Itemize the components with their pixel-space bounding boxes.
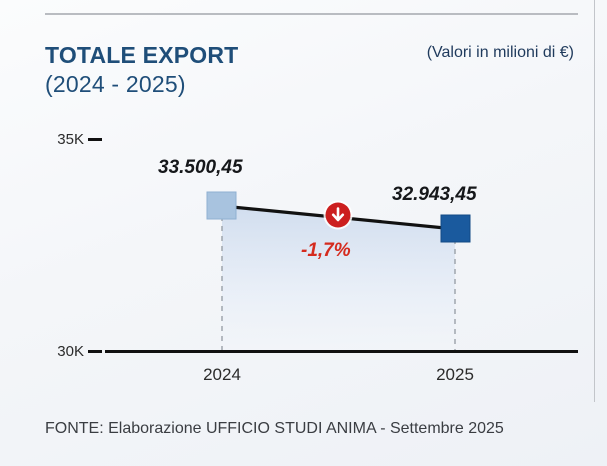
plot-area: 35K 30K 2024 2025 33.500,45 32.943,45 -1… xyxy=(0,0,607,466)
value-label-2025: 32.943,45 xyxy=(392,184,477,206)
value-label-2024: 33.500,45 xyxy=(158,157,243,179)
variation-badge[interactable] xyxy=(324,201,353,230)
data-marker-2024[interactable] xyxy=(207,192,236,219)
variation-label: -1,7% xyxy=(301,240,351,262)
ytick-label-35k: 35K xyxy=(36,131,84,148)
xtick-label-2024: 2024 xyxy=(177,365,267,385)
source-note: FONTE: Elaborazione UFFICIO STUDI ANIMA … xyxy=(45,420,504,438)
chart-svg xyxy=(0,0,607,466)
ytick-label-30k: 30K xyxy=(36,343,84,360)
xtick-label-2025: 2025 xyxy=(410,365,500,385)
data-marker-2025[interactable] xyxy=(441,215,470,242)
chart-card: TOTALE EXPORT (2024 - 2025) (Valori in m… xyxy=(0,0,607,466)
